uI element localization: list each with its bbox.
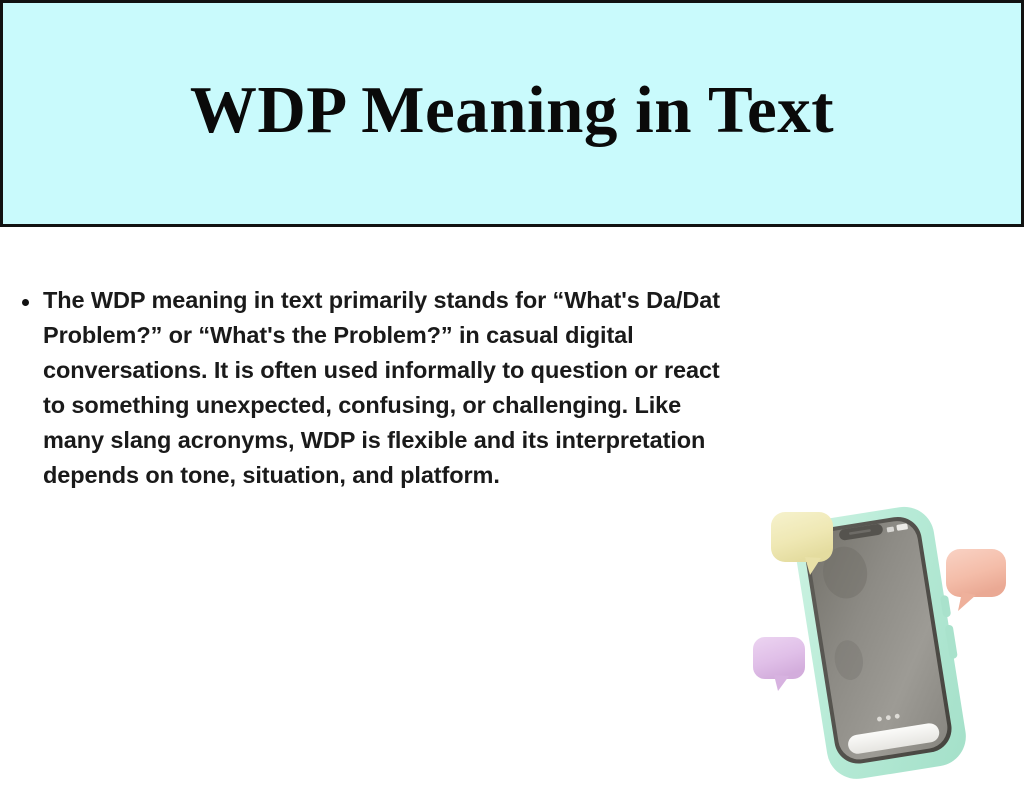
smartphone-with-chat-bubbles-illustration (748, 489, 1024, 789)
body-bullet-list: The WDP meaning in text primarily stands… (0, 227, 740, 493)
list-item: The WDP meaning in text primarily stands… (0, 227, 740, 493)
bullet-dot-icon (22, 299, 29, 306)
content-area: The WDP meaning in text primarily stands… (0, 227, 1024, 572)
chat-bubble-pink-icon (946, 549, 1006, 611)
header-banner: WDP Meaning in Text (0, 0, 1024, 227)
page-title: WDP Meaning in Text (180, 77, 844, 144)
chat-bubble-purple-icon (753, 637, 805, 691)
body-paragraph: The WDP meaning in text primarily stands… (43, 283, 723, 493)
